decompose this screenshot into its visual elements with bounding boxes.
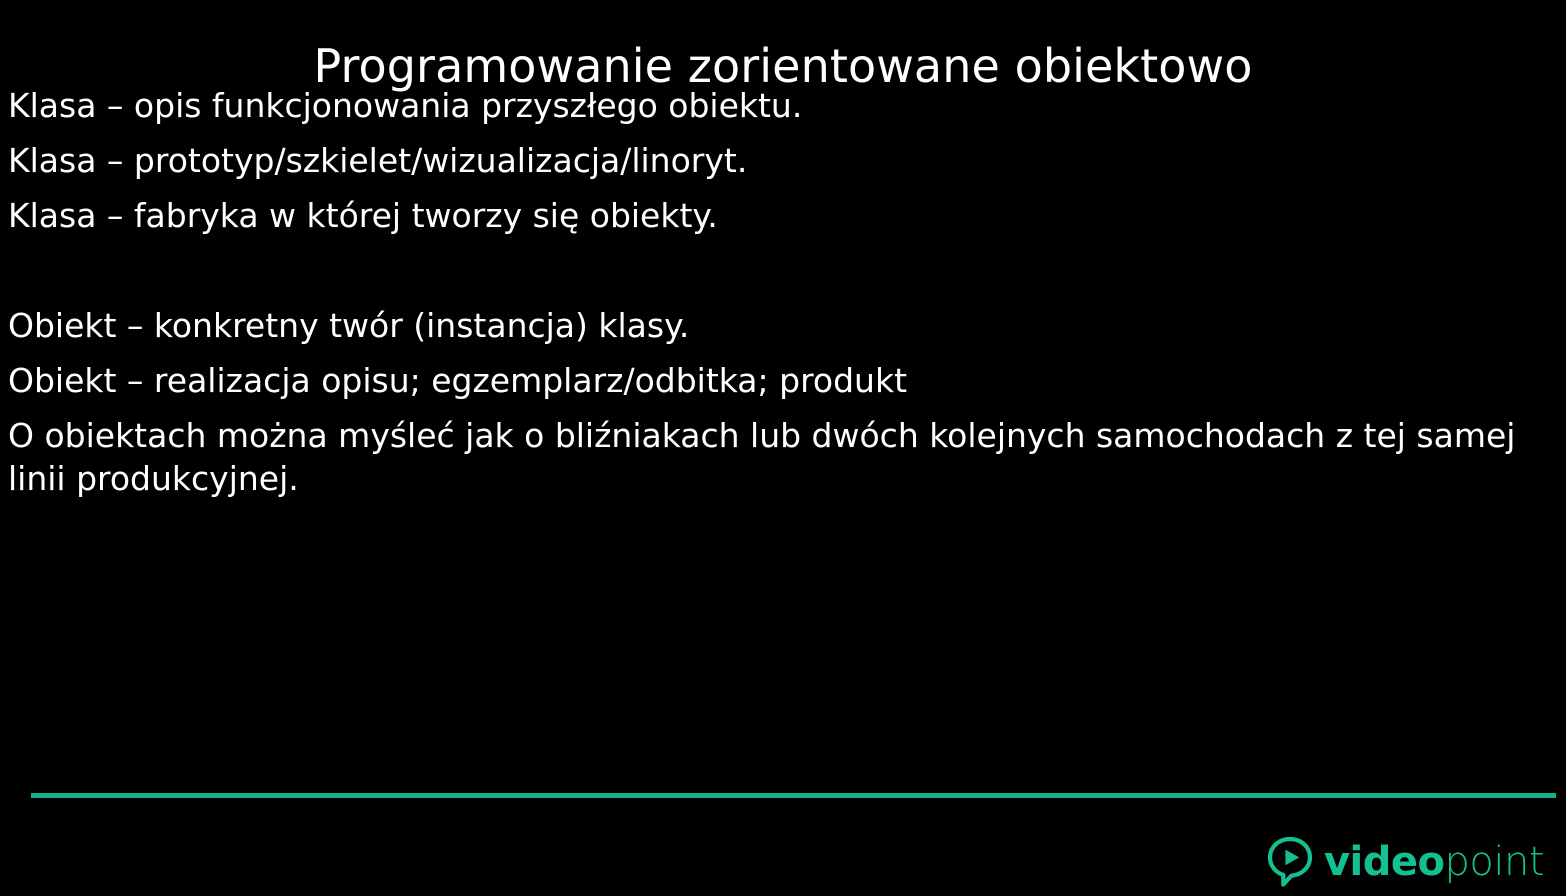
slide-canvas: Programowanie zorientowane obiektowo Kla… bbox=[0, 0, 1566, 896]
body-line-spacer bbox=[8, 243, 1553, 298]
footer-divider bbox=[31, 793, 1556, 798]
body-line: Klasa – opis funkcjonowania przyszłego o… bbox=[8, 78, 1553, 133]
videopoint-logo: videopoint bbox=[1268, 836, 1544, 888]
logo-word-video: video bbox=[1324, 840, 1445, 884]
body-line: Obiekt – konkretny twór (instancja) klas… bbox=[8, 298, 1553, 353]
videopoint-wordmark: videopoint bbox=[1324, 840, 1544, 884]
videopoint-play-bubble-icon bbox=[1268, 837, 1312, 887]
body-line: Obiekt – realizacja opisu; egzemplarz/od… bbox=[8, 353, 1553, 408]
body-line: Klasa – prototyp/szkielet/wizualizacja/l… bbox=[8, 133, 1553, 188]
body-line: Klasa – fabryka w której tworzy się obie… bbox=[8, 188, 1553, 243]
slide-body: Klasa – opis funkcjonowania przyszłego o… bbox=[8, 78, 1553, 500]
logo-word-point: point bbox=[1444, 840, 1544, 884]
body-line: O obiektach można myśleć jak o bliźniaka… bbox=[8, 414, 1553, 500]
